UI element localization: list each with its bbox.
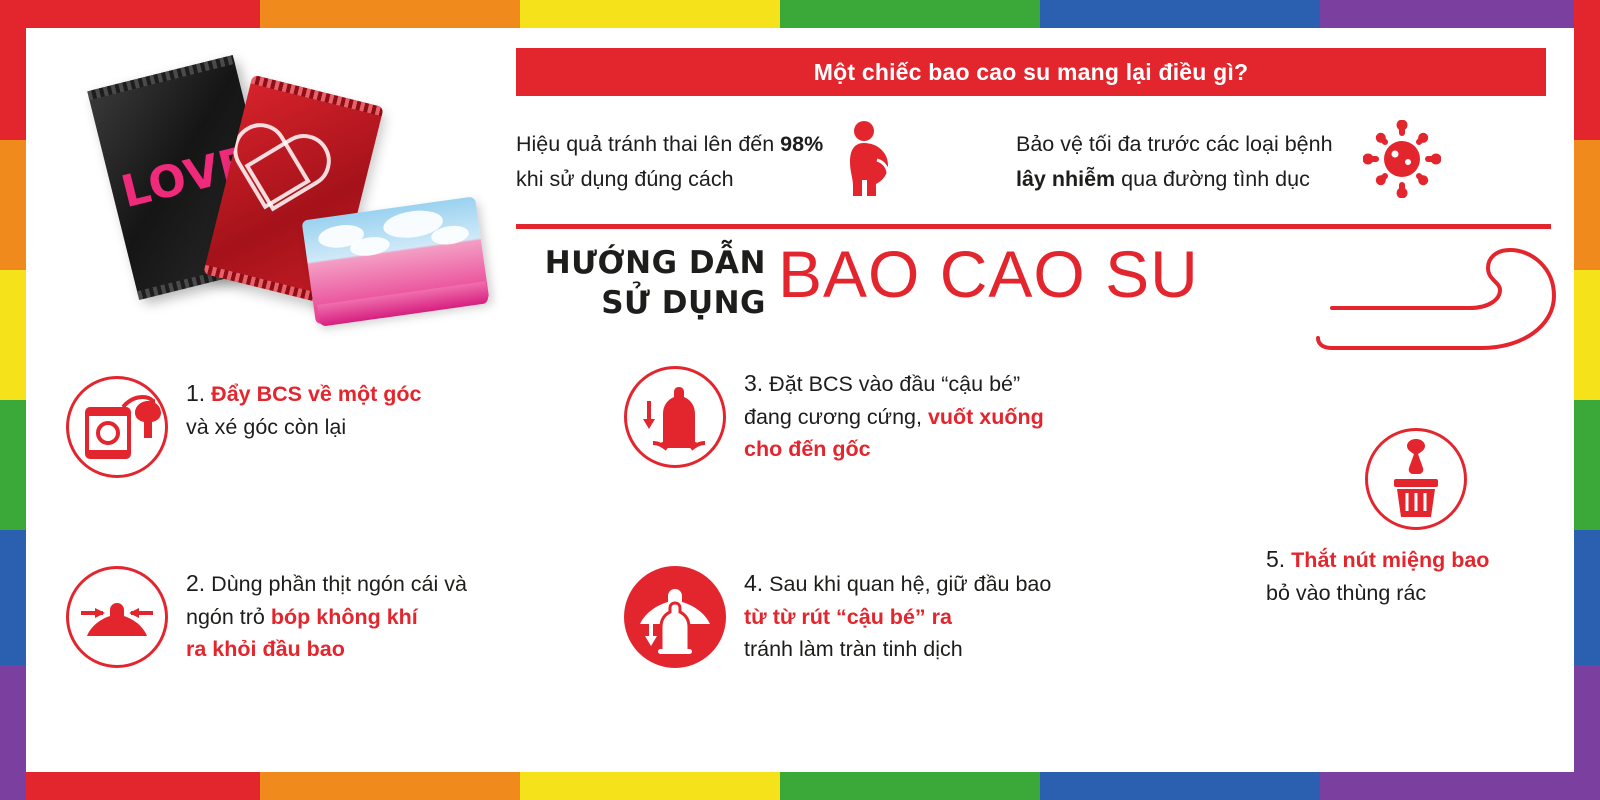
- step-5: 5. Thắt nút miệng bao bỏ vào thùng rác: [1266, 428, 1566, 609]
- step-2-seg4: ra khỏi đầu bao: [186, 637, 345, 661]
- benefits-row: Hiệu quả tránh thai lên đến 98% khi sử d…: [516, 114, 1556, 210]
- step-4-text: 4. Sau khi quan hệ, giữ đầu bao từ từ rú…: [744, 566, 1051, 665]
- step-4: 4. Sau khi quan hệ, giữ đầu bao từ từ rú…: [624, 566, 1051, 668]
- rainbow-border-right: [1574, 0, 1600, 800]
- title-subheading-line2: SỬ DỤNG: [526, 284, 766, 324]
- title-divider-rule: [516, 224, 1551, 229]
- step-1-seg2: và xé góc còn lại: [186, 415, 346, 439]
- benefit-pregnancy-line2: khi sử dụng đúng cách: [516, 167, 734, 191]
- step-1-text: 1. Đẩy BCS về một góc và xé góc còn lại: [186, 376, 421, 443]
- title-subheading: HƯỚNG DẪN SỬ DỤNG: [526, 244, 766, 323]
- step-1: 1. Đẩy BCS về một góc và xé góc còn lại: [66, 376, 421, 478]
- step-2-seg1: Dùng phần thịt ngón cái và: [211, 572, 467, 596]
- roll-condom-down-icon: [624, 366, 726, 468]
- benefit-sti: Bảo vệ tối đa trước các loại bệnh lây nh…: [1016, 120, 1556, 203]
- benefit-pregnancy-text: Hiệu quả tránh thai lên đến 98% khi sử d…: [516, 127, 823, 197]
- title-block: HƯỚNG DẪN SỬ DỤNG BAO CAO SU: [516, 234, 1556, 349]
- step-5-seg1: Thắt nút miệng bao: [1291, 548, 1489, 572]
- benefit-sti-text: Bảo vệ tối đa trước các loại bệnh lây nh…: [1016, 127, 1333, 197]
- step-4-seg1: Sau khi quan hệ, giữ đầu bao: [769, 572, 1051, 596]
- step-5-number: 5.: [1266, 546, 1285, 572]
- step-3-seg3: vuốt xuống: [928, 405, 1044, 429]
- banner-title: Một chiếc bao cao su mang lại điều gì?: [814, 59, 1248, 86]
- step-2: 2. Dùng phần thịt ngón cái và ngón trỏ b…: [66, 566, 467, 668]
- step-4-seg3: tránh làm tràn tinh dịch: [744, 637, 963, 661]
- step-5-icon-wrap: [1266, 428, 1566, 530]
- step-5-seg2: bỏ vào thùng rác: [1266, 581, 1426, 605]
- benefit-sti-line1: Bảo vệ tối đa trước các loại bệnh: [1016, 132, 1333, 156]
- step-3-seg4: cho đến gốc: [744, 437, 871, 461]
- step-5-text: 5. Thắt nút miệng bao bỏ vào thùng rác: [1266, 542, 1566, 609]
- step-3-number: 3.: [744, 370, 763, 396]
- benefit-sti-bold: lây nhiễm: [1016, 167, 1115, 191]
- header-banner: Một chiếc bao cao su mang lại điều gì?: [516, 48, 1546, 96]
- content-canvas: LOVE Một chiếc bao cao su mang lại điều …: [26, 28, 1574, 772]
- rainbow-border-top: [0, 0, 1600, 28]
- step-2-number: 2.: [186, 570, 205, 596]
- rainbow-border-bottom: [0, 772, 1600, 800]
- step-3-seg2: đang cương cứng,: [744, 405, 928, 429]
- pregnant-woman-icon: [837, 120, 897, 203]
- pinch-tip-arrows-icon: [66, 566, 168, 668]
- step-3-text: 3. Đặt BCS vào đầu “cậu bé” đang cương c…: [744, 366, 1044, 465]
- step-3: 3. Đặt BCS vào đầu “cậu bé” đang cương c…: [624, 366, 1044, 468]
- title-main: BAO CAO SU: [778, 236, 1199, 312]
- condom-packet-tear-corner-icon: [66, 376, 168, 478]
- step-4-seg2: từ từ rút “cậu bé” ra: [744, 605, 952, 629]
- virus-icon: [1363, 120, 1441, 203]
- benefit-pregnancy: Hiệu quả tránh thai lên đến 98% khi sử d…: [516, 120, 976, 203]
- step-1-seg1: Đẩy BCS về một góc: [211, 382, 421, 406]
- step-1-number: 1.: [186, 380, 205, 406]
- infographic-page: LOVE Một chiếc bao cao su mang lại điều …: [0, 0, 1600, 800]
- condom-packets-photo: LOVE: [66, 50, 486, 335]
- benefit-pregnancy-line1-pre: Hiệu quả tránh thai lên đến: [516, 132, 780, 156]
- benefit-pregnancy-percent: 98%: [780, 132, 823, 156]
- step-2-text: 2. Dùng phần thịt ngón cái và ngón trỏ b…: [186, 566, 467, 665]
- condom-outline-icon: [1316, 242, 1566, 352]
- heart-icon: [243, 127, 350, 228]
- title-subheading-line1: HƯỚNG DẪN: [526, 244, 766, 284]
- benefit-sti-line2-post: qua đường tình dục: [1115, 167, 1310, 191]
- rainbow-border-left: [0, 0, 26, 800]
- step-2-seg2: ngón trỏ: [186, 605, 271, 629]
- hold-base-withdraw-icon: [624, 566, 726, 668]
- step-2-seg3: bóp không khí: [271, 605, 418, 629]
- tie-knot-trash-bin-icon: [1365, 428, 1467, 530]
- step-3-seg1: Đặt BCS vào đầu “cậu bé”: [769, 372, 1020, 396]
- step-4-number: 4.: [744, 570, 763, 596]
